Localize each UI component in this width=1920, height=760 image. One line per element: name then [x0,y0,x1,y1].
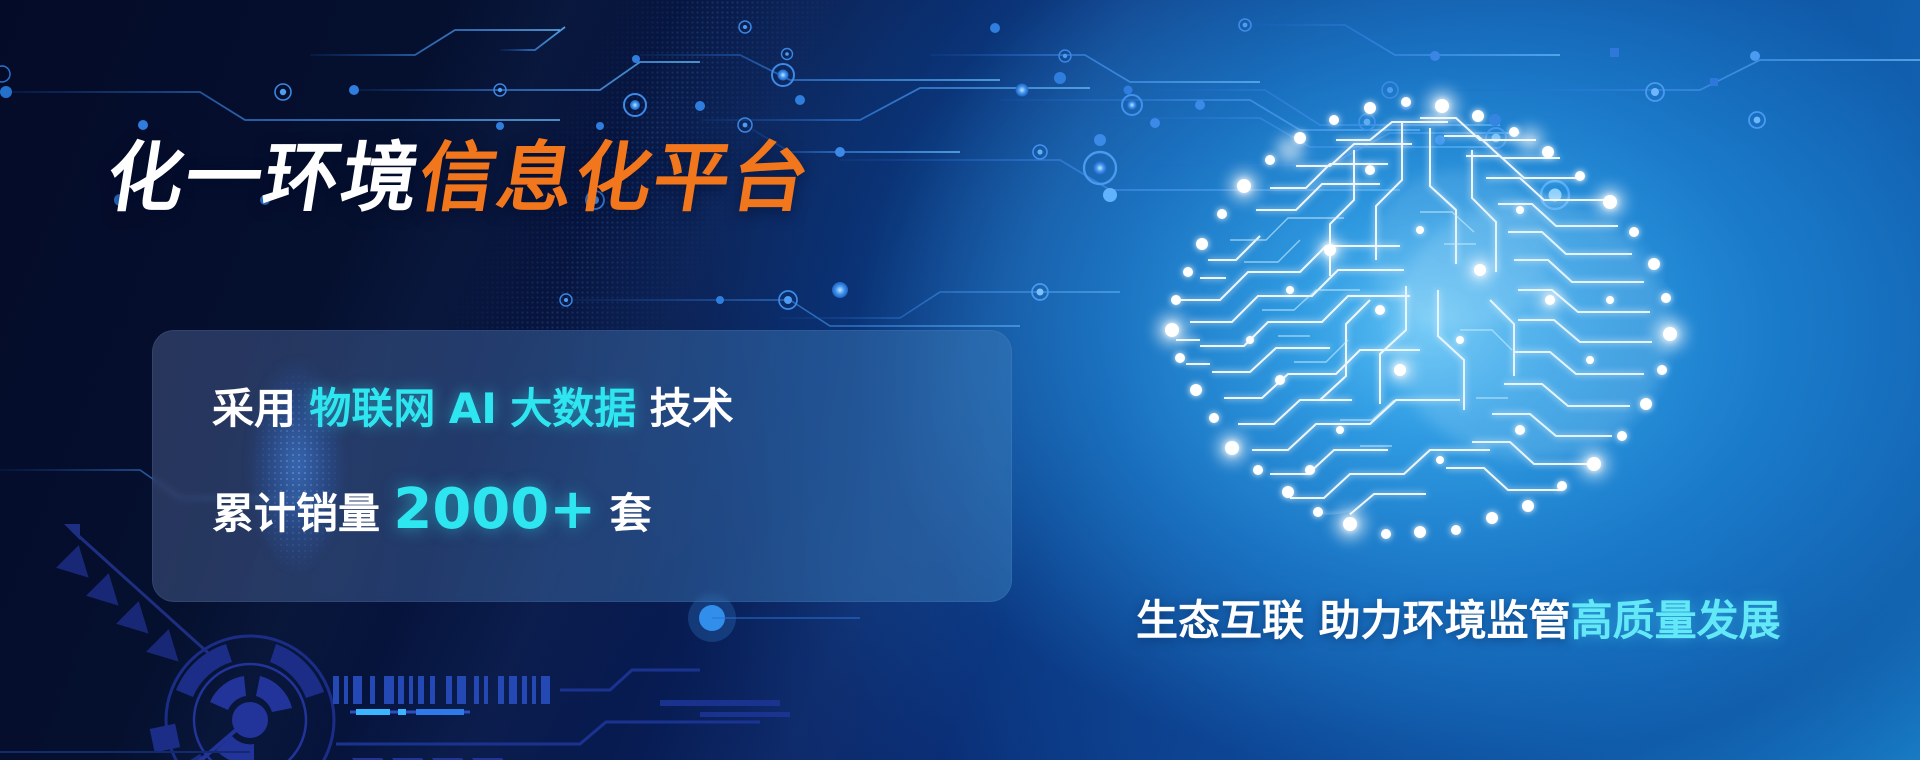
page-title: 化一环境信息化平台 [102,140,816,216]
title-orange-part: 信息化平台 [413,133,817,222]
tech-highlight-bigdata: 大数据 [510,384,636,433]
sales-count: 2000+ [393,477,596,542]
sales-unit: 套 [610,489,652,538]
info-card: 采用 物联网 AI 大数据 技术 累计销量 2000+ 套 [152,330,1012,602]
tagline: 生态互联 助力环境监管高质量发展 [1136,600,1781,642]
data-connector-line [350,709,470,715]
tech-dial-icon [150,636,334,760]
tech-suffix: 技术 [650,384,734,433]
title-white-part: 化一环境 [101,133,427,222]
tech-stack-line: 采用 物联网 AI 大数据 技术 [212,388,734,430]
tech-highlight-ai: AI [449,384,497,433]
data-bars-icon [333,676,550,704]
hero-banner: 化一环境信息化平台 采用 物联网 AI 大数据 技术 累计销量 2000+ 套 … [0,0,1920,760]
tech-highlight-iot: 物联网 [309,384,435,433]
sales-line: 累计销量 2000+ 套 [212,482,652,538]
sales-prefix: 累计销量 [212,489,380,538]
card-glow-dots-decoration [212,330,382,602]
tagline-white-part: 生态互联 助力环境监管 [1136,596,1571,645]
tech-prefix: 采用 [212,384,296,433]
tagline-cyan-part: 高质量发展 [1571,596,1781,645]
